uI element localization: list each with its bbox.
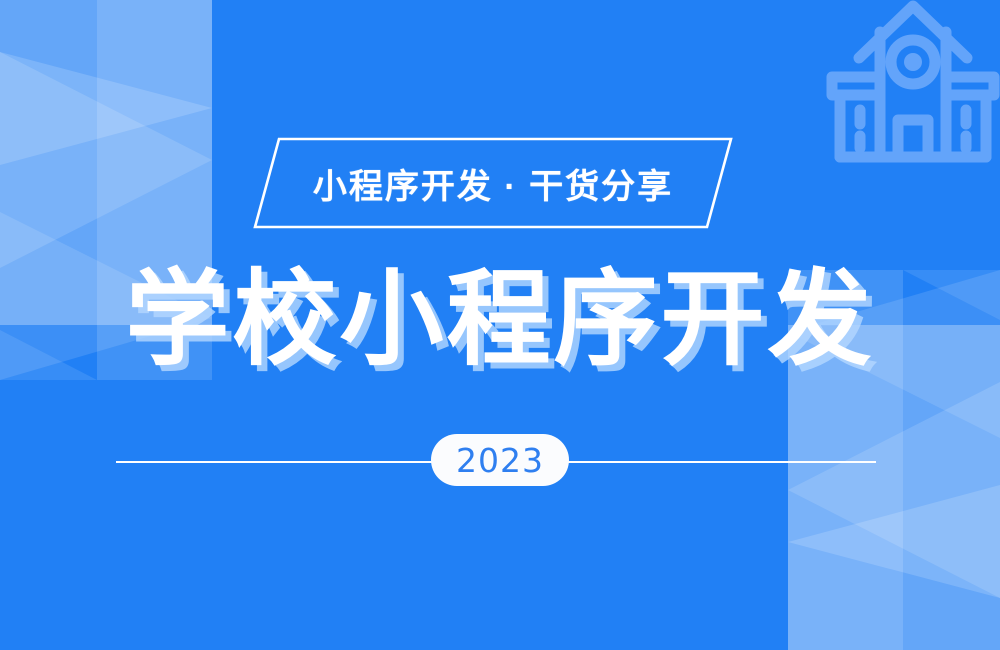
school-building-icon: [818, 0, 1000, 172]
deco-shape-chevron-upper-left: [0, 52, 212, 165]
deco-shape-arrow-left: [0, 52, 212, 268]
year-label: 2023: [456, 441, 544, 480]
promo-banner: 小程序开发 · 干货分享 学校小程序开发 2023: [0, 0, 1000, 650]
subtitle-text: 小程序开发 · 干货分享: [253, 137, 733, 229]
school-clock-center: [904, 53, 922, 71]
deco-shape-arrow-right: [788, 382, 1000, 598]
year-badge: 2023: [431, 434, 569, 486]
page-title: 学校小程序开发: [0, 262, 1000, 378]
deco-shape-chevron-lower-right: [788, 485, 1000, 598]
subtitle-banner: 小程序开发 · 干货分享: [253, 137, 733, 229]
